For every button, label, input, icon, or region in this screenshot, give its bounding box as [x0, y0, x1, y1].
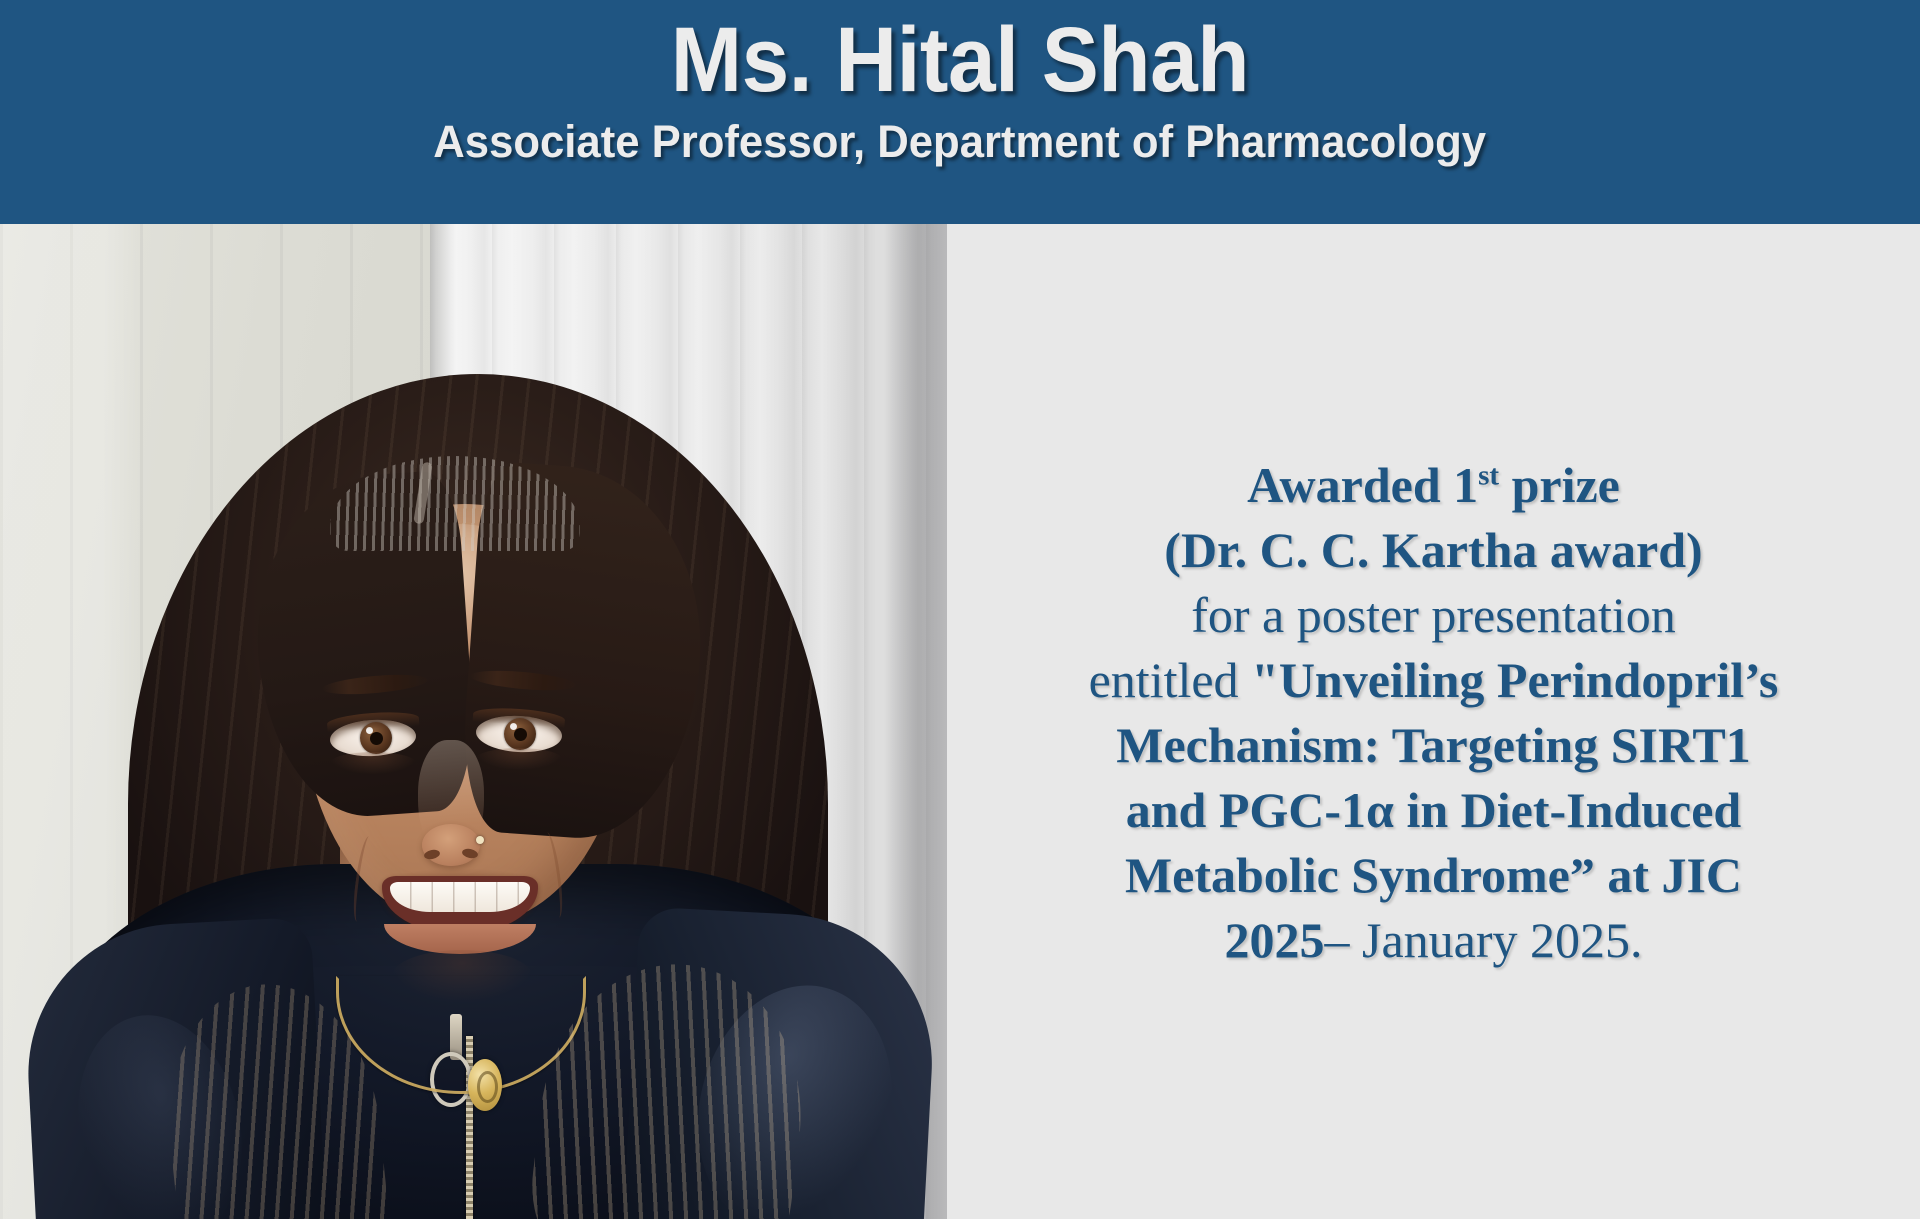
- award-line-1-suffix: prize: [1499, 457, 1620, 513]
- award-line-4-regular: entitled: [1089, 652, 1251, 708]
- award-line-2-text: (Dr. C. C. Kartha award): [1164, 522, 1702, 578]
- award-line-7: Metabolic Syndrome” at JIC: [994, 843, 1874, 908]
- award-line-7-text: Metabolic Syndrome” at JIC: [1125, 847, 1742, 903]
- under-eye-right: [476, 748, 562, 770]
- award-line-6-text: and PGC-1α in Diet-Induced: [1126, 782, 1741, 838]
- portrait-photo: [0, 224, 947, 1219]
- header-banner: Ms. Hital Shah Associate Professor, Depa…: [0, 0, 1920, 224]
- award-line-5-text: Mechanism: Targeting SIRT1: [1116, 717, 1750, 773]
- award-line-1-prefix: Awarded 1: [1247, 457, 1478, 513]
- award-line-6: and PGC-1α in Diet-Induced: [994, 778, 1874, 843]
- nose-tip: [422, 824, 480, 866]
- chin-shadow: [392, 950, 532, 1002]
- award-line-2: (Dr. C. C. Kartha award): [994, 518, 1874, 583]
- award-line-3: for a poster presentation: [994, 583, 1874, 648]
- award-line-5: Mechanism: Targeting SIRT1: [994, 713, 1874, 778]
- award-line-8-regular: – January 2025.: [1325, 912, 1643, 968]
- award-line-1-superscript: st: [1478, 459, 1499, 491]
- award-description: Awarded 1st prize (Dr. C. C. Kartha awar…: [994, 453, 1874, 973]
- award-text-panel: Awarded 1st prize (Dr. C. C. Kartha awar…: [947, 224, 1920, 1219]
- pupil-right: [514, 728, 527, 741]
- person-figure: [0, 224, 947, 1219]
- page-title: Ms. Hital Shah: [671, 14, 1249, 108]
- award-line-8-bold: 2025: [1225, 912, 1325, 968]
- pupil-left: [370, 732, 383, 745]
- under-eye-left: [330, 752, 416, 774]
- nose-stud: [476, 836, 484, 844]
- page-subtitle: Associate Professor, Department of Pharm…: [434, 118, 1487, 165]
- award-line-8: 2025– January 2025.: [994, 908, 1874, 973]
- necklace-pendant: [468, 1059, 502, 1111]
- award-announcement-slide: Ms. Hital Shah Associate Professor, Depa…: [0, 0, 1920, 1219]
- award-line-4-bold: "Unveiling Perindopril’s: [1251, 652, 1778, 708]
- award-line-4: entitled "Unveiling Perindopril’s: [994, 648, 1874, 713]
- teeth-gaps: [390, 882, 530, 912]
- award-line-1: Awarded 1st prize: [994, 453, 1874, 518]
